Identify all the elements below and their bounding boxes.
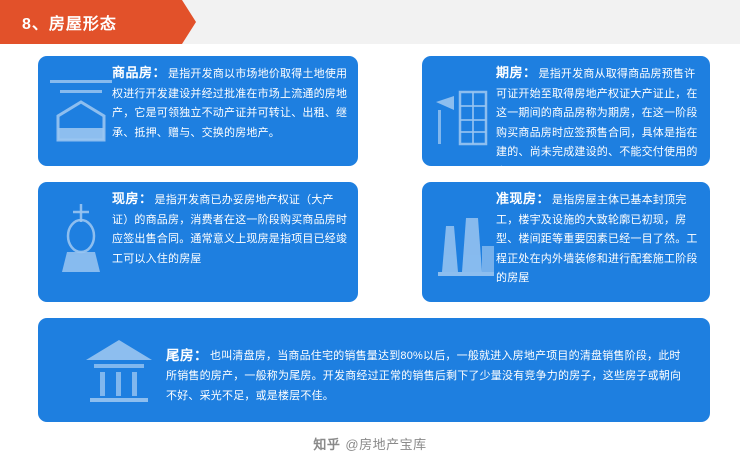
tower-icon xyxy=(48,192,114,280)
card-forward-delivery-house: 期房： 是指开发商从取得商品房预售许可证开始至取得房地产权证大产证止，在这一期间… xyxy=(422,56,710,166)
factory-icon xyxy=(432,192,498,280)
footer-author: @房地产宝库 xyxy=(345,434,426,453)
house-icon xyxy=(48,66,114,154)
zhihu-logo: 知乎 xyxy=(313,434,340,453)
card-existing-house: 现房： 是指开发商已办妥房地产权证（大产证）的商品房，消费者在这一阶段购买商品房… xyxy=(38,182,358,302)
card-title: 准现房： xyxy=(496,190,550,208)
building-crane-icon xyxy=(432,66,498,154)
card-body: 商品房： 是指开发商以市场地价取得土地使用权进行开发建设并经过批准在市场上流通的… xyxy=(112,64,348,160)
card-commodity-house: 商品房： 是指开发商以市场地价取得土地使用权进行开发建设并经过批准在市场上流通的… xyxy=(38,56,358,166)
card-body: 准现房： 是指房屋主体已基本封顶完工，楼宇及设施的大致轮廓已初现，房型、楼间距等… xyxy=(496,190,700,296)
header-bar: 8、房屋形态 xyxy=(0,0,740,44)
card-quasi-existing-house: 准现房： 是指房屋主体已基本封顶完工，楼宇及设施的大致轮廓已初现，房型、楼间距等… xyxy=(422,182,710,302)
card-body: 尾房： 也叫清盘房，当商品住宅的销售量达到80%以后，一般就进入房地产项目的清盘… xyxy=(166,346,690,416)
card-title: 尾房： xyxy=(166,346,208,365)
card-body: 现房： 是指开发商已办妥房地产权证（大产证）的商品房，消费者在这一阶段购买商品房… xyxy=(112,190,348,296)
card-body: 期房： 是指开发商从取得商品房预售许可证开始至取得房地产权证大产证止，在这一期间… xyxy=(496,64,700,160)
card-tail-house: 尾房： 也叫清盘房，当商品住宅的销售量达到80%以后，一般就进入房地产项目的清盘… xyxy=(38,318,710,422)
card-title: 商品房： xyxy=(112,64,166,82)
pavilion-icon xyxy=(82,334,156,406)
page-title: 8、房屋形态 xyxy=(22,10,117,34)
footer: 知乎 @房地产宝库 xyxy=(0,423,740,463)
slide-canvas: 8、房屋形态 商品房： 是指开发商以市场地价取得土地使用权进行开发建设并经过批准… xyxy=(0,0,740,463)
section-title-tab: 8、房屋形态 xyxy=(0,0,182,44)
card-text: 也叫清盘房，当商品住宅的销售量达到80%以后，一般就进入房地产项目的清盘销售阶段… xyxy=(166,350,681,402)
card-text: 是指开发商从取得商品房预售许可证开始至取得房地产权证大产证止，在这一期间的商品房… xyxy=(496,68,698,166)
card-title: 现房： xyxy=(112,190,153,208)
card-title: 期房： xyxy=(496,64,537,82)
